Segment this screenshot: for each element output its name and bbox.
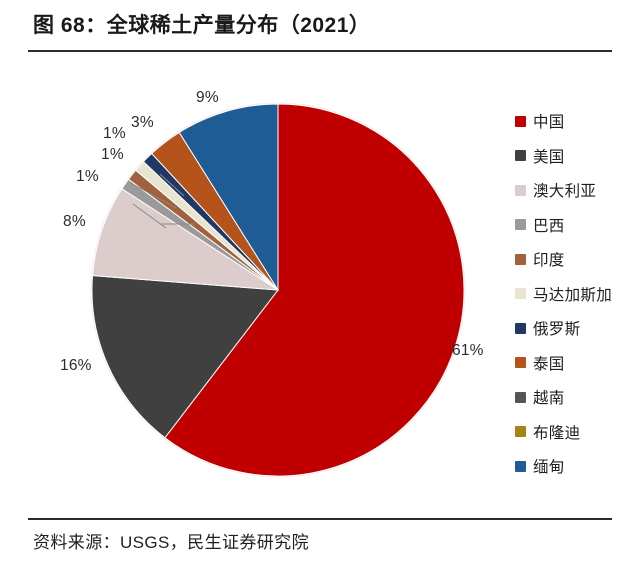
pie-slice-label: 9% — [196, 89, 219, 107]
legend-swatch-icon — [515, 323, 526, 334]
legend-item-label: 俄罗斯 — [533, 317, 580, 339]
legend-item-label: 印度 — [533, 248, 565, 270]
legend-item-label: 缅甸 — [533, 455, 565, 477]
pie-slice-label: 8% — [63, 213, 86, 231]
pie-chart-svg — [0, 58, 500, 518]
pie-slice-label: 61% — [452, 342, 484, 360]
source-note: 资料来源：USGS，民生证券研究院 — [33, 528, 309, 553]
legend-item-label: 澳大利亚 — [533, 179, 596, 201]
pie-slice-label: 16% — [60, 357, 92, 375]
legend-swatch-icon — [515, 150, 526, 161]
legend-item[interactable]: 缅甸 — [515, 449, 635, 484]
legend-item[interactable]: 美国 — [515, 139, 635, 174]
footer-divider — [28, 518, 612, 520]
legend-item[interactable]: 巴西 — [515, 208, 635, 243]
legend-item-label: 马达加斯加 — [533, 283, 612, 305]
pie-slice-label: 1% — [103, 125, 126, 143]
pie-slice-label: 1% — [76, 168, 99, 186]
legend-item[interactable]: 印度 — [515, 242, 635, 277]
pie-slice-label: 1% — [101, 146, 124, 164]
pie-slice-group — [91, 103, 466, 478]
page-title: 图 68：全球稀土产量分布（2021） — [33, 9, 370, 39]
legend-item[interactable]: 澳大利亚 — [515, 173, 635, 208]
title-divider — [28, 50, 612, 52]
chart-header: 图 68：全球稀土产量分布（2021） — [0, 0, 640, 58]
legend-swatch-icon — [515, 254, 526, 265]
pie-plot-area: 61%16%8%1%1%1%3%9% — [0, 58, 500, 518]
legend-item-label: 美国 — [533, 145, 565, 167]
legend-item-label: 泰国 — [533, 352, 565, 374]
pie-slice-label: 3% — [131, 114, 154, 132]
legend-swatch-icon — [515, 392, 526, 403]
legend-swatch-icon — [515, 219, 526, 230]
legend-item[interactable]: 越南 — [515, 380, 635, 415]
legend-item-label: 中国 — [533, 110, 565, 132]
legend-swatch-icon — [515, 116, 526, 127]
legend-swatch-icon — [515, 357, 526, 368]
legend-item-label: 布隆迪 — [533, 421, 580, 443]
legend-swatch-icon — [515, 288, 526, 299]
legend-item[interactable]: 俄罗斯 — [515, 311, 635, 346]
legend-item[interactable]: 布隆迪 — [515, 415, 635, 450]
legend-swatch-icon — [515, 461, 526, 472]
legend-item[interactable]: 泰国 — [515, 346, 635, 381]
chart-legend: 中国美国澳大利亚巴西印度马达加斯加俄罗斯泰国越南布隆迪缅甸 — [515, 104, 635, 484]
chart-page: 图 68：全球稀土产量分布（2021） 61%16%8%1%1%1%3%9% 中… — [0, 0, 640, 576]
legend-swatch-icon — [515, 426, 526, 437]
legend-item[interactable]: 中国 — [515, 104, 635, 139]
legend-swatch-icon — [515, 185, 526, 196]
legend-item-label: 越南 — [533, 386, 565, 408]
legend-item[interactable]: 马达加斯加 — [515, 277, 635, 312]
legend-item-label: 巴西 — [533, 214, 565, 236]
